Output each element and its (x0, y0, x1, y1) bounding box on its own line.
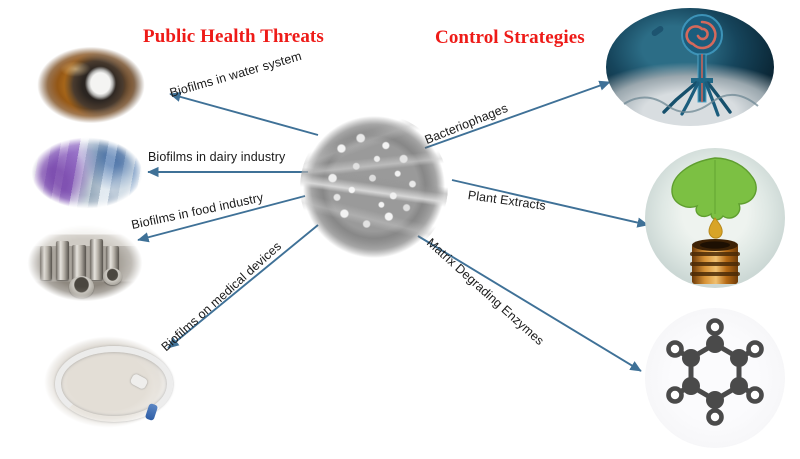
bacteriophage-glyph (606, 8, 774, 126)
food-industry-stainless-parts-photo (22, 221, 148, 305)
leaf-and-bottle-glyph (645, 148, 785, 288)
biofilm-sem-micrograph (300, 113, 448, 261)
label-biofilms-in-dairy-industry: Biofilms in dairy industry (148, 150, 285, 164)
bacteriophage-illustration (606, 8, 774, 126)
plant-extract-leaf-bottle-illustration (645, 148, 785, 288)
corroded-water-pipe-photo (32, 43, 150, 127)
arrow-water (170, 94, 318, 135)
medical-device-catheter-photo (38, 332, 178, 432)
biofilm-concept-diagram: Public Health Threats Control Strategies… (0, 0, 800, 459)
enzyme-molecule-icon (645, 308, 785, 448)
molecule-glyph (645, 308, 785, 448)
dairy-industry-photo (26, 134, 148, 212)
arrow-bacteriophages (425, 82, 610, 148)
